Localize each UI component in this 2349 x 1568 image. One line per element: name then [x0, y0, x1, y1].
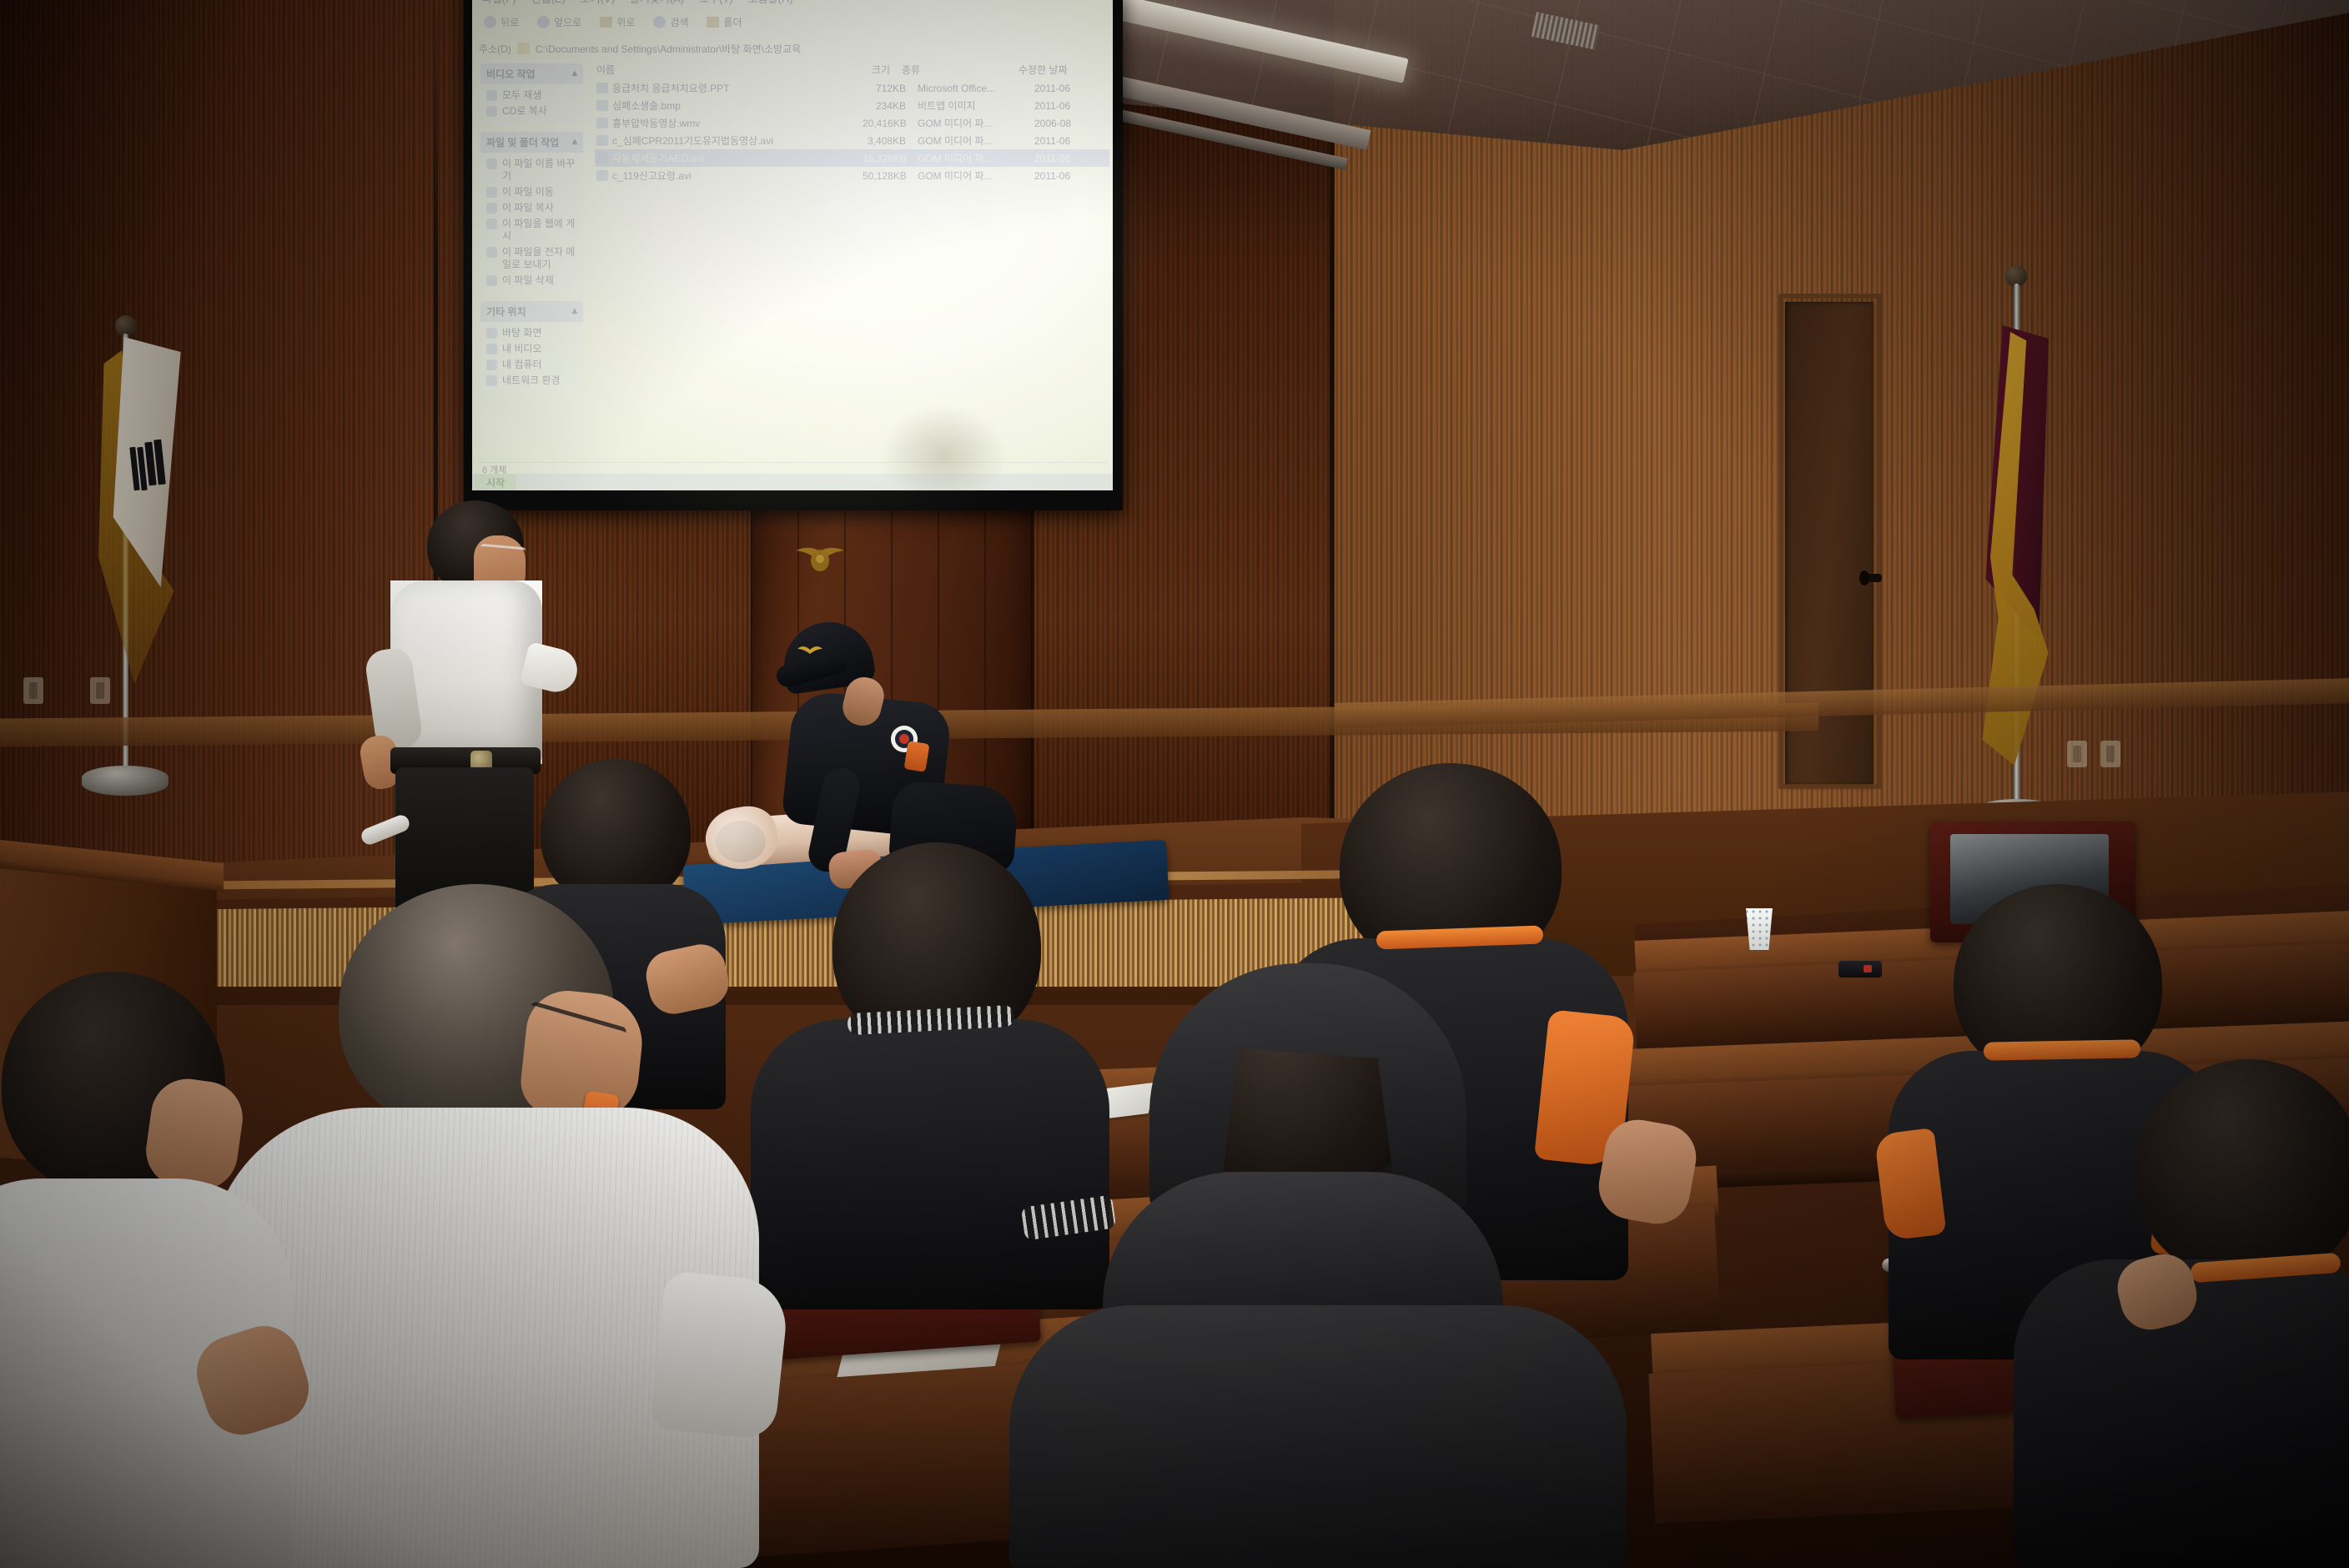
- file-list-header: 이름 크기 종류 수정한 날짜: [595, 62, 1109, 79]
- forward-button[interactable]: 앞으로: [537, 15, 581, 29]
- file-name: 심폐소생술.bmp: [612, 98, 863, 113]
- task-item[interactable]: 이 파일 삭제: [485, 273, 578, 289]
- back-button[interactable]: 뒤로: [484, 15, 519, 29]
- file-name: c_심폐CPR2011기도유지법동영상.avi: [612, 133, 863, 148]
- file-size: 50,128KB: [863, 170, 918, 182]
- file-row[interactable]: c_119신고요령.avi 50,128KB GOM 미디어 파... 2011…: [595, 167, 1109, 184]
- task-group-other-places: 기타 위치 ▴ 바탕 화면 내 비디오 내 컴퓨터 네트워크 환경: [480, 301, 583, 394]
- collapse-chevron-icon[interactable]: ▴: [572, 135, 577, 149]
- menu-tools[interactable]: 도구(T): [699, 0, 733, 6]
- file-name: c_119신고요령.avi: [612, 168, 863, 183]
- video-icon: [596, 153, 608, 163]
- up-arrow-icon: [600, 17, 612, 28]
- column-type[interactable]: 종류: [902, 63, 1019, 77]
- file-row[interactable]: 응급처치 응급처치요령.PPT 712KB Microsoft Office..…: [595, 79, 1109, 97]
- task-item[interactable]: 이 파일 이동: [485, 184, 578, 200]
- orange-sleeve-left: [1874, 1128, 1946, 1241]
- search-icon: [653, 16, 666, 28]
- collapse-chevron-icon[interactable]: ▴: [572, 304, 577, 319]
- sleeve-right: [649, 1270, 790, 1441]
- attendee-orange-black-polo-far-right: [2027, 1059, 2349, 1568]
- file-size: 234KB: [863, 100, 918, 112]
- file-type: GOM 미디어 파...: [918, 168, 1034, 183]
- video-icon: [596, 118, 608, 128]
- file-row[interactable]: 흉부압박동영상.wmv 20,416KB GOM 미디어 파... 2006-0…: [595, 114, 1109, 132]
- file-type: 비트맵 이미지: [918, 98, 1034, 113]
- cap-wing-insignia-icon: [797, 644, 822, 656]
- column-size[interactable]: 크기: [847, 63, 902, 77]
- wall-outlet[interactable]: [23, 677, 43, 704]
- file-date: 2011-06: [1034, 153, 1109, 164]
- task-item[interactable]: 이 파일을 전자 메일로 보내기: [485, 244, 578, 273]
- file-size: 20,416KB: [863, 118, 918, 129]
- file-type: GOM 미디어 파...: [918, 116, 1034, 130]
- task-group-file: 파일 및 폴더 작업 ▴ 이 파일 이름 바꾸기 이 파일 이동 이 파일 복사…: [480, 132, 583, 294]
- explorer-menubar: 파일(F) 편집(E) 보기(V) 즐겨찾기(A) 도구(T) 도움말(H): [477, 0, 1113, 5]
- projection-screen-frame: 파일(F) 편집(E) 보기(V) 즐겨찾기(A) 도구(T) 도움말(H) 뒤…: [464, 0, 1123, 510]
- file-size: 15,328KB: [863, 153, 918, 164]
- task-group-title[interactable]: 비디오 작업 ▴: [480, 63, 583, 84]
- attendee-white-shirt-left: [0, 972, 300, 1568]
- back-arrow-icon: [484, 16, 496, 28]
- task-item[interactable]: 이 파일을 웹에 게시: [485, 216, 578, 244]
- task-item[interactable]: 모두 재생: [485, 88, 578, 103]
- column-name[interactable]: 이름: [596, 63, 847, 77]
- auditorium-photograph: 파일(F) 편집(E) 보기(V) 즐겨찾기(A) 도구(T) 도움말(H) 뒤…: [0, 0, 2349, 1568]
- file-name: 응급처치 응급처치요령.PPT: [612, 81, 863, 95]
- file-date: 2011-06: [1034, 83, 1109, 94]
- wall-outlet[interactable]: [2100, 741, 2120, 767]
- task-group-title[interactable]: 파일 및 폴더 작업 ▴: [480, 132, 583, 153]
- task-item[interactable]: 이 파일 복사: [485, 200, 578, 216]
- torso: [1009, 1305, 1627, 1568]
- menu-favorites[interactable]: 즐겨찾기(A): [630, 0, 684, 6]
- column-date[interactable]: 수정한 날짜: [1019, 63, 1094, 77]
- taskbar: 시작: [472, 474, 1113, 490]
- projection-screen: 파일(F) 편집(E) 보기(V) 즐겨찾기(A) 도구(T) 도움말(H) 뒤…: [472, 0, 1113, 490]
- explorer-file-list: 이름 크기 종류 수정한 날짜 응급처치 응급처치요령.PPT 712KB Mi…: [586, 62, 1109, 462]
- folders-button[interactable]: 폴더: [707, 15, 742, 29]
- file-date: 2011-06: [1034, 135, 1109, 147]
- menu-view[interactable]: 보기(V): [581, 0, 615, 6]
- file-type: Microsoft Office...: [918, 83, 1034, 94]
- file-size: 712KB: [863, 83, 918, 94]
- file-date: 2011-06: [1034, 100, 1109, 112]
- address-bar[interactable]: 주소(D) C:\Documents and Settings\Administ…: [479, 40, 1108, 57]
- wall-outlet[interactable]: [2067, 741, 2087, 767]
- task-item[interactable]: 이 파일 이름 바꾸기: [485, 156, 578, 184]
- file-row[interactable]: c_심폐CPR2011기도유지법동영상.avi 3,408KB GOM 미디어 …: [595, 132, 1109, 149]
- file-name: 흉부압박동영상.wmv: [612, 116, 863, 130]
- projector-shadow: [881, 405, 1006, 490]
- task-item[interactable]: CD로 복사: [485, 103, 578, 119]
- explorer-toolbar: 뒤로 앞으로 위로 검색 폴더: [477, 8, 1113, 35]
- cpr-demonstrator: [751, 575, 1001, 876]
- shoulder-orange-patch: [904, 741, 930, 772]
- task-item[interactable]: 바탕 화면: [485, 325, 578, 341]
- task-group-video: 비디오 작업 ▴ 모두 재생 CD로 복사: [480, 63, 583, 124]
- file-type: GOM 미디어 파...: [918, 151, 1034, 165]
- forward-arrow-icon: [537, 16, 550, 28]
- flag-base-left: [82, 766, 169, 796]
- windows-explorer-window: 파일(F) 편집(E) 보기(V) 즐겨찾기(A) 도구(T) 도움말(H) 뒤…: [472, 0, 1113, 490]
- file-type: GOM 미디어 파...: [918, 133, 1034, 148]
- file-date: 2011-06: [1034, 170, 1109, 182]
- start-button[interactable]: 시작: [475, 474, 516, 491]
- gold-winged-emblem-icon: [784, 544, 856, 577]
- wall-outlet[interactable]: [90, 677, 110, 704]
- video-icon: [596, 135, 608, 146]
- attendee-hoodie: [1009, 972, 1627, 1568]
- file-name: 자동제세동기AED.avi: [612, 151, 863, 165]
- address-label: 주소(D): [479, 42, 511, 56]
- menu-edit[interactable]: 편집(E): [531, 0, 566, 6]
- address-value[interactable]: C:\Documents and Settings\Administrator\…: [536, 42, 801, 56]
- task-item[interactable]: 내 비디오: [485, 341, 578, 357]
- door-handle-icon[interactable]: [1862, 574, 1882, 582]
- file-row[interactable]: 심폐소생술.bmp 234KB 비트맵 이미지 2011-06: [595, 97, 1109, 114]
- folder-icon: [707, 17, 719, 28]
- file-size: 3,408KB: [863, 135, 918, 147]
- task-item[interactable]: 내 컴퓨터: [485, 357, 578, 373]
- folder-icon: [517, 43, 530, 54]
- file-row-selected[interactable]: 자동제세동기AED.avi 15,328KB GOM 미디어 파... 2011…: [595, 149, 1109, 167]
- orange-collar: [1984, 1039, 2140, 1060]
- file-date: 2006-08: [1034, 118, 1109, 129]
- bitmap-icon: [596, 100, 608, 111]
- search-button[interactable]: 검색: [653, 15, 688, 29]
- powerpoint-icon: [596, 83, 608, 93]
- task-group-title[interactable]: 기타 위치 ▴: [480, 301, 583, 322]
- explorer-task-pane: 비디오 작업 ▴ 모두 재생 CD로 복사 파일 및 폴더 작업: [477, 62, 586, 462]
- head: [2135, 1059, 2349, 1281]
- up-button[interactable]: 위로: [600, 15, 635, 29]
- collapse-chevron-icon[interactable]: ▴: [572, 67, 577, 81]
- menu-help[interactable]: 도움말(H): [748, 0, 793, 6]
- video-icon: [596, 170, 608, 181]
- task-item[interactable]: 네트워크 환경: [485, 373, 578, 389]
- menu-file[interactable]: 파일(F): [482, 0, 516, 6]
